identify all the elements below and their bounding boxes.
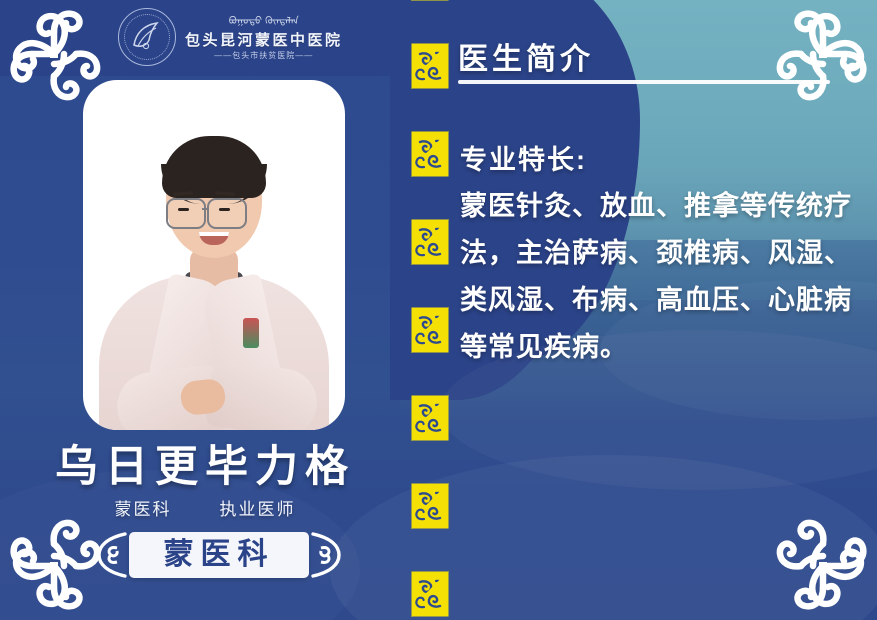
plaque-left-scroll-icon [95,532,129,578]
hospital-logo-text: ᠪᠤᠭᠤᠲᠤ ᠬᠦᠨᠳᠡᠯᠡᠨ 包头昆河蒙医中医院 ——包头市扶贫医院—— [185,14,343,60]
hospital-logo: ᠪᠤᠭᠤᠲᠤ ᠬᠦᠨᠳᠡᠯᠡᠨ 包头昆河蒙医中医院 ——包头市扶贫医院—— [118,8,343,66]
section-title: 医生简介 [458,34,594,78]
doctor-profile-poster: ᠪᠤᠭᠤᠲᠤ ᠬᠦᠨᠳᠡᠯᠡᠨ 包头昆河蒙医中医院 ——包头市扶贫医院—— [0,0,877,620]
doctor-meta: 蒙医科 执业医师 [0,495,410,520]
hospital-subtitle: ——包头市扶贫医院—— [214,52,313,60]
specialty-text: 蒙医针灸、放血、推拿等传统疗法，主治萨病、颈椎病、风湿、类风湿、布病、高血压、心… [460,183,856,371]
portrait-glasses-left [166,198,206,229]
plaque-box: 蒙医科 [129,532,309,578]
portrait-glasses-right [207,198,247,229]
doctor-title: 执业医师 [220,495,296,520]
doctor-photo-card [83,80,345,430]
portrait-pocket-emblem [243,318,259,348]
doctor-department: 蒙医科 [115,495,172,520]
doctor-name: 乌日更毕力格 [0,432,410,494]
department-plaque: 蒙医科 [95,531,343,579]
hospital-mongolian-script: ᠪᠤᠭᠤᠲᠤ ᠬᠦᠨᠳᠡᠯᠡᠨ [229,14,299,30]
specialty-label: 专业特长: [460,138,587,177]
hospital-emblem-icon [118,8,176,66]
zigzag-ornament-band [406,0,454,620]
plaque-right-scroll-icon [309,532,343,578]
plaque-label: 蒙医科 [164,540,275,570]
section-title-rule [458,80,830,84]
portrait-eye-right [219,208,230,211]
portrait-glasses-bridge [202,208,209,210]
hospital-name: 包头昆河蒙医中医院 [185,33,343,48]
portrait-eye-left [178,208,189,211]
doctor-portrait [83,80,345,430]
